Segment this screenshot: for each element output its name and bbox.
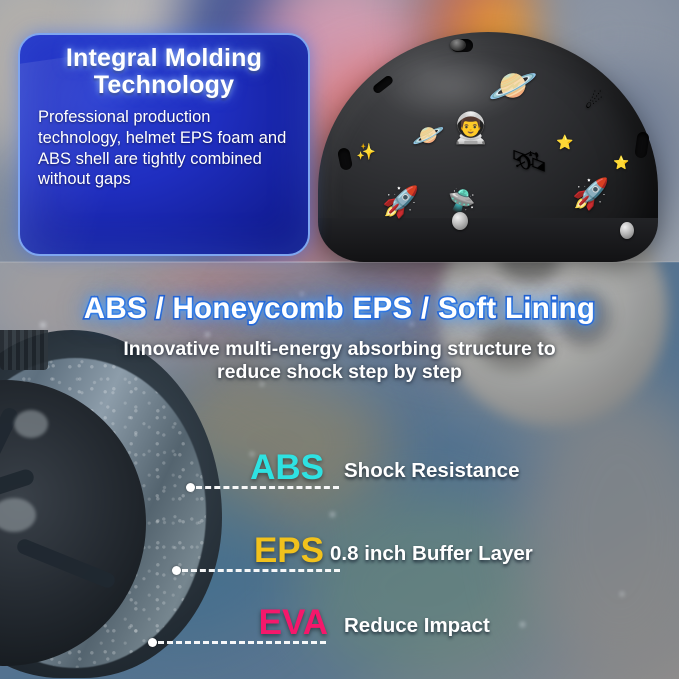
leader-dot [148,638,157,647]
materials-headline: ABS / Honeycomb EPS / Soft Lining [0,292,679,326]
sparkle-sticker: ✨ [356,145,376,161]
card-title: Integral Molding Technology [34,45,294,99]
astronaut-sticker: 👨‍🚀 [452,114,489,144]
material-desc-abs: Shock Resistance [344,459,519,483]
card-body-text: Professional production technology, helm… [38,107,292,190]
leader-line-eps [172,566,342,574]
material-desc-eva: Reduce Impact [344,614,490,638]
leader-dash [158,641,326,644]
material-code-eps: EPS [254,533,324,568]
leader-dot [186,483,195,492]
star-yellow-sticker: ⭐ [613,156,629,169]
comet-sticker: ☄ [585,92,603,112]
star-blue-sticker: ⭐ [556,135,573,149]
helmet-rivet [452,212,468,230]
leader-dash [182,569,340,572]
rocket-red-sticker: 🚀 [572,180,609,210]
product-feature-image: 🪐🪐👨‍🚀🛰☄⭐⭐🚀🚀🛸✨ Integral Molding Technolog… [0,0,679,679]
spaceship-sticker: 🛸 [448,190,475,212]
background-star [520,622,525,627]
helmet-brim [318,218,658,262]
astronaut-rocket-sticker: 🚀 [382,188,419,218]
leader-dot [172,566,181,575]
helmet-rivet [450,39,466,51]
materials-subheadline-text: Innovative multi-energy absorbing struct… [90,338,590,384]
materials-subheadline: Innovative multi-energy absorbing struct… [0,338,679,384]
background-star [620,592,624,596]
leader-line-abs [186,483,341,491]
saturn-sticker: 🪐 [412,122,444,148]
leader-dash [196,486,339,489]
satellite-sticker: 🛰 [510,147,548,177]
helmet-rivet [620,222,634,239]
integral-molding-card: Integral Molding Technology Professional… [18,33,310,256]
planet-mars-sticker: 🪐 [488,66,538,106]
leader-line-eva [148,638,328,646]
helmet-product-photo: 🪐🪐👨‍🚀🛰☄⭐⭐🚀🚀🛸✨ [300,22,672,272]
background-star [330,512,335,517]
material-code-eva: EVA [259,605,328,640]
material-code-abs: ABS [250,450,324,485]
material-desc-eps: 0.8 inch Buffer Layer [330,542,533,566]
